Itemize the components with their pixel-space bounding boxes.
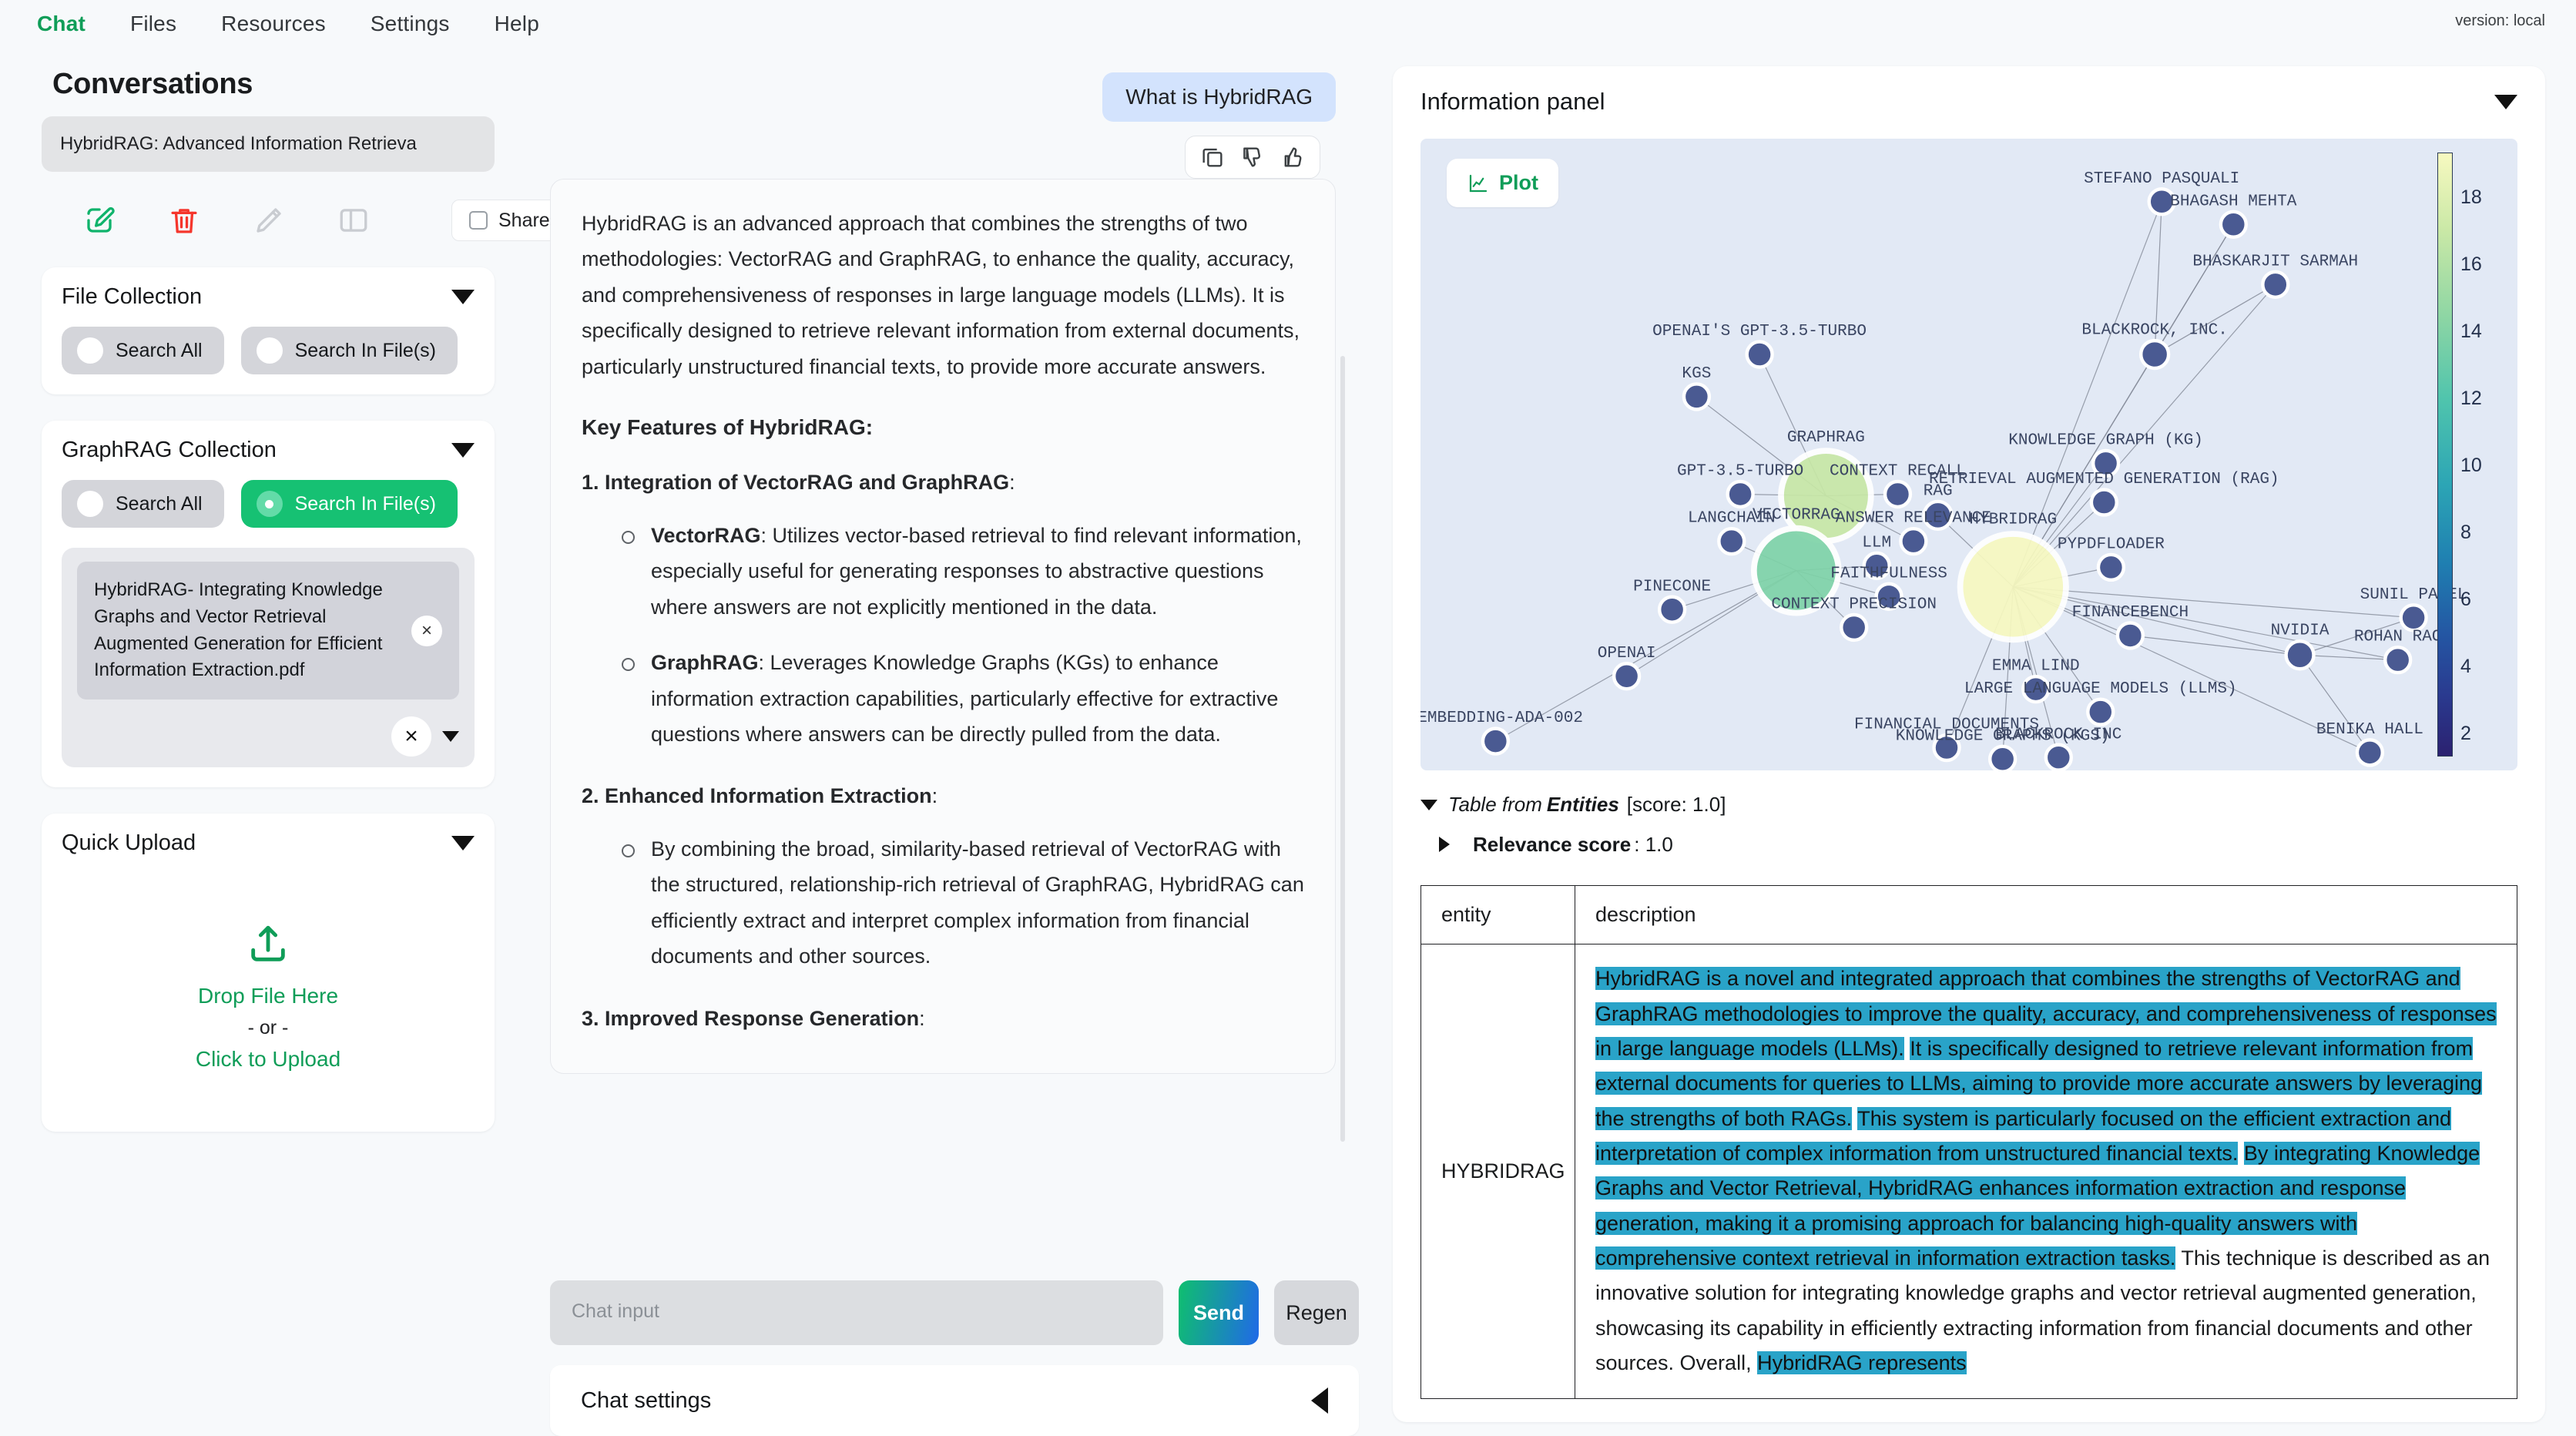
trash-icon[interactable] bbox=[168, 204, 200, 237]
option-label: Search In File(s) bbox=[295, 493, 436, 515]
graph-node-label: HYBRIDRAG bbox=[1969, 511, 2057, 529]
graph-node-label: BENIKA HALL bbox=[2316, 720, 2423, 739]
chat-input[interactable] bbox=[550, 1280, 1163, 1345]
list-item: Improved Response Generation: bbox=[582, 1001, 1304, 1036]
assistant-intro: HybridRAG is an advanced approach that c… bbox=[582, 206, 1304, 384]
graph-node[interactable] bbox=[1614, 663, 1639, 689]
option-label: Search All bbox=[116, 493, 203, 515]
graph-node-label: NVIDIA bbox=[2271, 622, 2329, 640]
table-score: [score: 1.0] bbox=[1627, 789, 1726, 821]
pencil-icon[interactable] bbox=[253, 204, 285, 237]
graph-node-label: BLACKROCK, INC. bbox=[2081, 320, 2227, 339]
user-message: What is HybridRAG bbox=[1102, 72, 1336, 122]
colorbar-tick: 16 bbox=[2460, 253, 2482, 276]
graphrag-search-all[interactable]: Search All bbox=[62, 480, 224, 528]
file-collection-header[interactable]: File Collection bbox=[62, 284, 475, 310]
graph-node-label: OPENAI'S GPT-3.5-TURBO bbox=[1652, 322, 1867, 341]
graphrag-collection-header[interactable]: GraphRAG Collection bbox=[62, 438, 475, 463]
list-item: Integration of VectorRAG and GraphRAG: V… bbox=[582, 465, 1304, 752]
file-collection-card: File Collection Search All Search In Fil… bbox=[42, 267, 495, 394]
graph-node-label: ROHAN RAO bbox=[2354, 628, 2442, 646]
plain-text bbox=[2238, 1142, 2244, 1165]
chat-settings-label: Chat settings bbox=[581, 1388, 711, 1414]
chevron-down-icon[interactable] bbox=[451, 443, 475, 458]
graph-node-label: CONTEXT PRECISION bbox=[1771, 595, 1937, 613]
message-actions bbox=[1185, 136, 1320, 179]
column-header-description: description bbox=[1575, 886, 2517, 944]
assistant-feature-list: Integration of VectorRAG and GraphRAG: V… bbox=[582, 465, 1304, 1036]
file-collection-search-all[interactable]: Search All bbox=[62, 327, 224, 374]
graph-node-label: GPT-3.5-TURBO bbox=[1677, 462, 1803, 481]
graphrag-collection-title: GraphRAG Collection bbox=[62, 438, 277, 463]
graph-node[interactable] bbox=[1747, 342, 1773, 367]
colorbar-tick: 6 bbox=[2460, 589, 2471, 611]
graph-node[interactable] bbox=[2286, 641, 2314, 669]
chevron-down-icon[interactable] bbox=[451, 836, 475, 851]
sub-term: GraphRAG bbox=[651, 651, 759, 674]
triangle-down-icon[interactable] bbox=[1420, 800, 1437, 810]
graph-node[interactable] bbox=[1659, 597, 1685, 622]
file-collection-title: File Collection bbox=[62, 284, 202, 310]
conversation-item[interactable]: HybridRAG: Advanced Information Retrievа bbox=[42, 116, 495, 172]
chevron-left-icon[interactable] bbox=[1311, 1387, 1328, 1414]
graph-node-label: BHASKARJIT SARMAH bbox=[2192, 252, 2358, 270]
colorbar-tick: 18 bbox=[2460, 186, 2482, 209]
feature-title: Enhanced Information Extraction bbox=[605, 784, 932, 807]
conversations-title: Conversations bbox=[52, 68, 505, 101]
colorbar-tick: 10 bbox=[2460, 455, 2482, 477]
table-source-name: Entities bbox=[1547, 789, 1619, 821]
regen-button[interactable]: Regen bbox=[1274, 1280, 1359, 1345]
chevron-down-icon[interactable] bbox=[2494, 95, 2517, 109]
scroll-fade bbox=[522, 1220, 1393, 1267]
radio-icon bbox=[77, 491, 103, 517]
upload-dropzone[interactable]: Drop File Here - or - Click to Upload bbox=[62, 856, 475, 1112]
graph-node[interactable] bbox=[2401, 605, 2427, 630]
assistant-message: HybridRAG is an advanced approach that c… bbox=[550, 179, 1336, 1074]
list-item: VectorRAG: Utilizes vector-based retriev… bbox=[617, 518, 1304, 625]
graph-node-label: LANGCHAIN bbox=[1688, 509, 1776, 528]
conversation-toolbar: Shared bbox=[83, 200, 505, 241]
graph-node-label: OPENAI bbox=[1598, 644, 1656, 663]
graph-node-label: GRAPHRAG bbox=[1787, 428, 1865, 447]
relevance-score-row[interactable]: Relevance score : 1.0 bbox=[1434, 829, 2517, 861]
information-panel: Information panel Plot STEFANO PASQUALIB… bbox=[1393, 66, 2545, 1422]
graph-node-label: LLM bbox=[1862, 533, 1891, 552]
thumbs-down-icon[interactable] bbox=[1239, 144, 1266, 170]
chevron-down-icon[interactable] bbox=[442, 731, 459, 742]
graph-node-label: FAITHFULNESS bbox=[1830, 564, 1947, 582]
nav-tab-settings[interactable]: Settings bbox=[371, 12, 450, 36]
list-item: GraphRAG: Leverages Knowledge Graphs (KG… bbox=[617, 645, 1304, 752]
graph-node-label: KNOWLEDGE GRAPH (KG) bbox=[2008, 431, 2203, 449]
chevron-down-icon[interactable] bbox=[451, 290, 475, 304]
feature-title: Integration of VectorRAG and GraphRAG bbox=[605, 471, 1009, 494]
sub-text: By combining the broad, similarity-based… bbox=[651, 837, 1304, 968]
nav-tab-resources[interactable]: Resources bbox=[221, 12, 326, 36]
colorbar-tick: 8 bbox=[2460, 522, 2471, 544]
radio-icon bbox=[77, 337, 103, 364]
nav-tab-chat[interactable]: Chat bbox=[37, 12, 86, 36]
radio-icon bbox=[257, 337, 283, 364]
version-label: version: local bbox=[2455, 12, 2545, 30]
quick-upload-card: Quick Upload Drop File Here - or - Click… bbox=[42, 814, 495, 1132]
graph-canvas: STEFANO PASQUALIBHAGASH MEHTABHASKARJIT … bbox=[1420, 139, 2517, 770]
table-row: HYBRIDRAG HybridRAG is a novel and integ… bbox=[1421, 944, 2517, 1398]
panel-icon[interactable] bbox=[337, 204, 370, 237]
graph-node-label: PYPDFLOADER bbox=[2058, 535, 2165, 553]
file-collection-options: Search All Search In File(s) bbox=[62, 327, 475, 374]
graph-node-label: ANSWER RELEVANCE bbox=[1836, 509, 1991, 528]
feature-sublist: By combining the broad, similarity-based… bbox=[617, 831, 1304, 975]
list-item: Enhanced Information Extraction: By comb… bbox=[582, 778, 1304, 974]
top-navigation: Chat Files Resources Settings Help versi… bbox=[0, 0, 2576, 48]
relevance-score-value: : 1.0 bbox=[1634, 829, 1673, 861]
knowledge-graph-plot[interactable]: Plot STEFANO PASQUALIBHAGASH MEHTABHASKA… bbox=[1420, 139, 2517, 770]
graph-node-label: CONTEXT RECALL bbox=[1830, 462, 1966, 481]
drop-file-label: Drop File Here bbox=[62, 979, 475, 1012]
click-to-upload-link[interactable]: Click to Upload bbox=[62, 1042, 475, 1075]
graph-node[interactable] bbox=[2118, 623, 2143, 649]
graphrag-collection-options: Search All Search In File(s) bbox=[62, 480, 475, 528]
sub-term: VectorRAG bbox=[651, 524, 761, 547]
quick-upload-header[interactable]: Quick Upload bbox=[62, 830, 475, 856]
graph-node-label: BLACKROCK INC bbox=[1995, 725, 2122, 743]
chat-column: What is HybridRAG HybridRAG is an advanc… bbox=[522, 48, 1393, 1436]
graph-node[interactable] bbox=[1990, 747, 2015, 770]
chat-messages: What is HybridRAG HybridRAG is an advanc… bbox=[522, 48, 1393, 1267]
graph-node[interactable] bbox=[2091, 490, 2117, 515]
entities-table: entity description HYBRIDRAG HybridRAG i… bbox=[1420, 885, 2517, 1398]
info-panel-column: Information panel Plot STEFANO PASQUALIB… bbox=[1393, 48, 2545, 1436]
graph-node-label: RAG bbox=[1924, 481, 1953, 500]
information-panel-header[interactable]: Information panel bbox=[1420, 88, 2517, 116]
file-list-controls: × bbox=[77, 716, 459, 757]
feature-title: Improved Response Generation bbox=[605, 1007, 919, 1030]
file-collection-search-in-files[interactable]: Search In File(s) bbox=[241, 327, 458, 374]
graph-node-label: -EMBEDDING-ADA-002 bbox=[1420, 709, 1583, 727]
colorbar-tick: 2 bbox=[2460, 723, 2471, 745]
list-item: By combining the broad, similarity-based… bbox=[617, 831, 1304, 975]
assistant-features-heading: Key Features of HybridRAG: bbox=[582, 409, 1304, 446]
feature-sublist: VectorRAG: Utilizes vector-based retriev… bbox=[617, 518, 1304, 753]
copy-icon[interactable] bbox=[1199, 144, 1226, 170]
graph-node[interactable] bbox=[2262, 272, 2288, 297]
graph-node[interactable] bbox=[1961, 534, 2066, 639]
option-label: Search In File(s) bbox=[295, 340, 436, 362]
colorbar: 18161412108642 bbox=[2437, 153, 2504, 757]
upload-or-label: - or - bbox=[62, 1013, 475, 1043]
cell-entity: HYBRIDRAG bbox=[1421, 944, 1575, 1398]
cell-description: HybridRAG is a novel and integrated appr… bbox=[1575, 944, 2517, 1398]
chat-composer: Send Regen bbox=[522, 1267, 1393, 1345]
edit-square-icon[interactable] bbox=[83, 204, 116, 237]
graph-node[interactable] bbox=[2357, 740, 2383, 765]
remove-file-icon[interactable]: × bbox=[411, 616, 442, 646]
radio-selected-icon bbox=[257, 491, 283, 517]
graph-node[interactable] bbox=[1684, 384, 1709, 409]
nav-tab-files[interactable]: Files bbox=[130, 12, 176, 36]
send-button[interactable]: Send bbox=[1179, 1280, 1259, 1345]
graph-node[interactable] bbox=[2046, 745, 2071, 770]
nav-tab-help[interactable]: Help bbox=[495, 12, 539, 36]
upload-icon bbox=[246, 922, 290, 967]
graph-node[interactable] bbox=[2221, 212, 2246, 237]
graph-node-label: RETRIEVAL AUGMENTED GENERATION (RAG) bbox=[1929, 470, 2279, 488]
sidebar: Conversations HybridRAG: Advanced Inform… bbox=[28, 48, 505, 1436]
colorbar-tick: 12 bbox=[2460, 388, 2482, 410]
graph-node[interactable] bbox=[2385, 647, 2410, 673]
graph-node[interactable] bbox=[1719, 528, 1744, 554]
graph-node-label: KGS bbox=[1682, 364, 1711, 383]
selected-files-wrapper: HybridRAG- Integrating Knowledge Graphs … bbox=[62, 548, 475, 767]
graph-node[interactable] bbox=[1900, 528, 1926, 554]
column-header-entity: entity bbox=[1421, 886, 1575, 944]
graph-node-label: PINECONE bbox=[1633, 577, 1711, 596]
option-label: Search All bbox=[116, 340, 203, 362]
graph-node[interactable] bbox=[1728, 481, 1753, 507]
clear-all-files-icon[interactable]: × bbox=[391, 716, 431, 757]
shared-checkbox[interactable] bbox=[469, 211, 488, 230]
table-metadata: Table from Entities [score: 1.0] Relevan… bbox=[1420, 789, 2517, 861]
graph-node-label: LARGE LANGUAGE MODELS (LLMS) bbox=[1964, 679, 2237, 698]
relevance-score-label: Relevance score bbox=[1473, 829, 1631, 861]
colorbar-gradient bbox=[2437, 153, 2453, 757]
table-source-row[interactable]: Table from Entities [score: 1.0] bbox=[1420, 789, 2517, 821]
colorbar-tick: 4 bbox=[2460, 656, 2471, 678]
graph-node[interactable] bbox=[1885, 481, 1910, 507]
chat-settings-bar[interactable]: Chat settings bbox=[550, 1365, 1359, 1436]
graph-node-label: EMMA LIND bbox=[1992, 657, 2080, 676]
quick-upload-title: Quick Upload bbox=[62, 830, 196, 856]
graphrag-collection-card: GraphRAG Collection Search All Search In… bbox=[42, 421, 495, 787]
graphrag-search-in-files[interactable]: Search In File(s) bbox=[241, 480, 458, 528]
chat-scrollbar[interactable] bbox=[1340, 356, 1345, 1142]
information-panel-title: Information panel bbox=[1420, 88, 1605, 116]
table-header-row: entity description bbox=[1421, 886, 2517, 944]
selected-file-chip: HybridRAG- Integrating Knowledge Graphs … bbox=[77, 562, 459, 700]
colorbar-ticks: 18161412108642 bbox=[2460, 153, 2504, 757]
graph-node-label: FINANCEBENCH bbox=[2072, 603, 2189, 622]
graph-node[interactable] bbox=[1841, 615, 1867, 640]
graph-node-label: STEFANO PASQUALI bbox=[2084, 169, 2239, 188]
graph-node[interactable] bbox=[2088, 700, 2113, 725]
selected-file-name: HybridRAG- Integrating Knowledge Graphs … bbox=[94, 577, 399, 684]
colorbar-tick: 14 bbox=[2460, 320, 2482, 343]
table-from-label: Table from bbox=[1448, 789, 1542, 821]
graph-node[interactable] bbox=[1483, 729, 1508, 754]
triangle-right-icon[interactable] bbox=[1439, 837, 1450, 852]
graph-node-label: BHAGASH MEHTA bbox=[2170, 192, 2297, 210]
thumbs-up-icon[interactable] bbox=[1280, 144, 1306, 170]
graph-node[interactable] bbox=[2141, 341, 2168, 368]
graph-node[interactable] bbox=[2098, 555, 2124, 580]
highlighted-text: HybridRAG represents bbox=[1757, 1351, 1967, 1374]
